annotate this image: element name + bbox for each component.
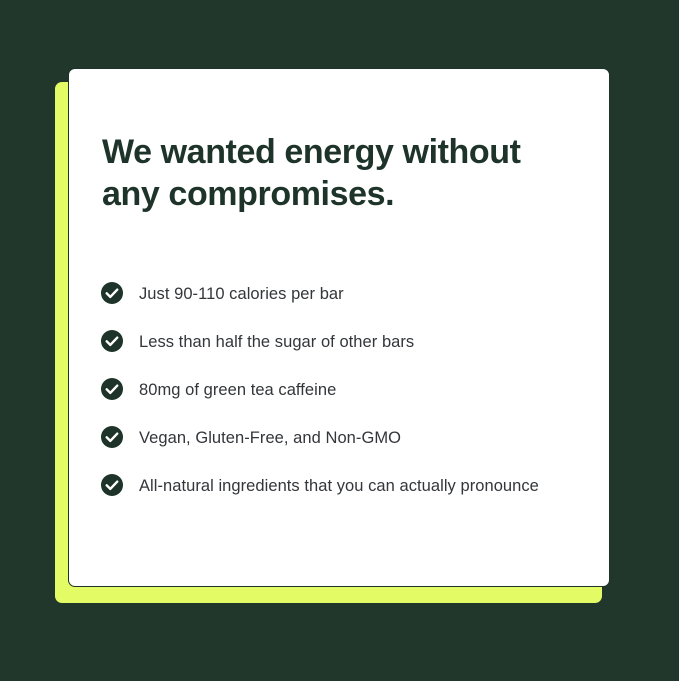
list-item-label: Vegan, Gluten-Free, and Non-GMO bbox=[139, 425, 570, 451]
list-item: Just 90-110 calories per bar bbox=[100, 281, 570, 307]
check-circle-icon bbox=[100, 425, 124, 449]
check-circle-icon bbox=[100, 473, 124, 497]
check-circle-icon bbox=[100, 281, 124, 305]
list-item: 80mg of green tea caffeine bbox=[100, 377, 570, 403]
list-item: All-natural ingredients that you can act… bbox=[100, 473, 570, 499]
list-item-label: All-natural ingredients that you can act… bbox=[139, 473, 570, 499]
page-title: We wanted energy without any compromises… bbox=[102, 131, 522, 215]
list-item: Vegan, Gluten-Free, and Non-GMO bbox=[100, 425, 570, 451]
benefits-panel: We wanted energy without any compromises… bbox=[0, 0, 679, 681]
list-item: Less than half the sugar of other bars bbox=[100, 329, 570, 355]
list-item-label: 80mg of green tea caffeine bbox=[139, 377, 570, 403]
list-item-label: Less than half the sugar of other bars bbox=[139, 329, 570, 355]
check-circle-icon bbox=[100, 329, 124, 353]
info-card: We wanted energy without any compromises… bbox=[68, 68, 610, 587]
benefits-list: Just 90-110 calories per bar Less than h… bbox=[100, 281, 570, 499]
check-circle-icon bbox=[100, 377, 124, 401]
list-item-label: Just 90-110 calories per bar bbox=[139, 281, 570, 307]
